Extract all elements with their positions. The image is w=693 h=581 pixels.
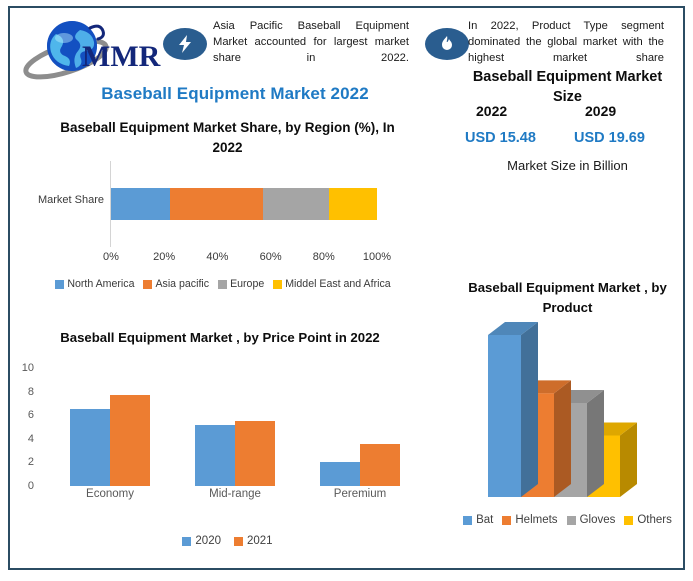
legend-swatch	[218, 280, 227, 289]
price-point-bar-2020	[320, 462, 360, 486]
price-point-bar-2020	[195, 425, 235, 486]
price-point-group	[58, 368, 162, 486]
region-x-tick: 40%	[206, 251, 228, 263]
price-point-chart-title: Baseball Equipment Market , by Price Poi…	[35, 328, 405, 348]
product-plot-area	[480, 320, 670, 510]
region-stacked-bar	[111, 188, 377, 220]
market-size-value-end: USD 19.69	[574, 130, 645, 146]
legend-label: Helmets	[515, 514, 557, 526]
market-size-values: USD 15.48 USD 19.69	[460, 130, 675, 152]
region-segment-2	[263, 188, 330, 220]
legend-swatch	[55, 280, 64, 289]
region-x-tick: 100%	[363, 251, 391, 263]
product-bar-side-Bat	[521, 322, 538, 497]
header-note-right: In 2022, Product Type segment dominated …	[468, 18, 664, 67]
price-point-group	[183, 368, 287, 486]
price-point-y-tick: 2	[28, 456, 34, 468]
market-size-value-start: USD 15.48	[465, 130, 536, 146]
price-point-legend: 20202021	[40, 535, 415, 547]
region-legend-item: Europe	[218, 278, 264, 290]
legend-swatch	[567, 516, 576, 525]
legend-swatch	[273, 280, 282, 289]
legend-label: Europe	[230, 278, 264, 290]
legend-label: Middel East and Africa	[285, 278, 390, 290]
price-point-x-labels: EconomyMid-rangePeremium	[40, 488, 415, 506]
region-plot-area	[111, 161, 377, 247]
price-point-y-tick: 6	[28, 409, 34, 421]
header-note-left: Asia Pacific Baseball Equipment Market a…	[213, 18, 409, 67]
legend-swatch	[143, 280, 152, 289]
region-legend-item: Middel East and Africa	[273, 278, 390, 290]
price-point-bar-2021	[360, 444, 400, 486]
legend-swatch	[624, 516, 633, 525]
price-point-bar-2021	[110, 395, 150, 486]
market-size-years: 2022 2029	[460, 103, 675, 123]
region-x-ticks: 0%20%40%60%80%100%	[80, 251, 410, 267]
product-bar-front-Bat	[488, 335, 521, 497]
legend-swatch	[463, 516, 472, 525]
market-size-title: Baseball Equipment Market Size	[460, 68, 675, 107]
region-category-label: Market Share	[22, 194, 104, 206]
legend-label: 2021	[247, 535, 273, 547]
market-size-year-end: 2029	[585, 103, 616, 119]
legend-swatch	[182, 537, 191, 546]
product-legend-item: Bat	[463, 514, 493, 526]
region-x-tick: 60%	[260, 251, 282, 263]
svg-text:MMR: MMR	[82, 40, 161, 73]
price-point-bar-2021	[235, 421, 275, 486]
legend-label: North America	[67, 278, 134, 290]
market-size-year-start: 2022	[476, 103, 507, 119]
product-bar-side-Helmets	[554, 380, 571, 497]
price-point-y-tick: 4	[28, 433, 34, 445]
region-x-tick: 20%	[153, 251, 175, 263]
price-point-legend-item: 2021	[234, 535, 273, 547]
lightning-badge	[163, 28, 207, 60]
price-point-y-tick: 0	[28, 480, 34, 492]
region-x-tick: 80%	[313, 251, 335, 263]
legend-label: Gloves	[580, 514, 616, 526]
price-point-y-tick: 10	[22, 362, 34, 374]
infographic-page: MMR Asia Pacific Baseball Equipment Mark…	[0, 0, 693, 581]
region-segment-3	[329, 188, 377, 220]
price-point-plot-area	[40, 368, 415, 486]
product-bar-side-Gloves	[587, 390, 604, 497]
region-segment-1	[170, 188, 263, 220]
flame-icon	[440, 36, 454, 53]
legend-label: 2020	[195, 535, 221, 547]
market-size-subtitle: Market Size in Billion	[460, 158, 675, 173]
price-point-x-label: Peremium	[334, 488, 386, 500]
flame-badge	[425, 28, 469, 60]
price-point-y-axis: 0246810	[8, 368, 34, 486]
product-legend: BatHelmetsGlovesOthers	[455, 514, 680, 526]
page-title: Baseball Equipment Market 2022	[60, 84, 410, 104]
region-x-tick: 0%	[103, 251, 119, 263]
region-legend: North AmericaAsia pacificEuropeMiddel Ea…	[18, 278, 428, 290]
price-point-bar-2020	[70, 409, 110, 486]
mmr-logo: MMR	[20, 14, 165, 84]
product-legend-item: Others	[624, 514, 672, 526]
legend-label: Others	[637, 514, 672, 526]
price-point-x-label: Mid-range	[209, 488, 261, 500]
price-point-legend-item: 2020	[182, 535, 221, 547]
region-legend-item: Asia pacific	[143, 278, 209, 290]
region-legend-item: North America	[55, 278, 134, 290]
product-bar-side-Others	[620, 422, 637, 497]
product-chart-title: Baseball Equipment Market , by Product	[455, 278, 680, 318]
price-point-group	[308, 368, 412, 486]
legend-swatch	[502, 516, 511, 525]
region-segment-0	[111, 188, 170, 220]
price-point-y-tick: 8	[28, 386, 34, 398]
lightning-bolt-icon	[178, 35, 192, 53]
legend-label: Asia pacific	[155, 278, 209, 290]
region-chart-title: Baseball Equipment Market Share, by Regi…	[55, 118, 400, 157]
product-legend-item: Helmets	[502, 514, 557, 526]
legend-swatch	[234, 537, 243, 546]
legend-label: Bat	[476, 514, 493, 526]
price-point-x-label: Economy	[86, 488, 134, 500]
product-legend-item: Gloves	[567, 514, 616, 526]
